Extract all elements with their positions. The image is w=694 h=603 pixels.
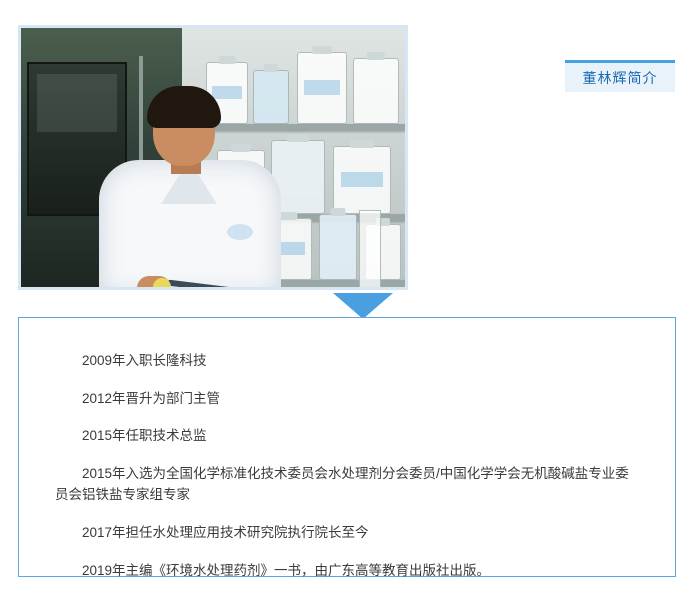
profile-title-label: 董林辉简介	[583, 68, 658, 88]
reagent-bottle	[319, 214, 357, 280]
reagent-bottle	[353, 58, 399, 124]
profile-title-chip: 董林辉简介	[565, 60, 675, 92]
list-item: 2015年入选为全国化学标准化技术委员会水处理剂分会委员/中国化学学会无机酸碱盐…	[55, 463, 639, 506]
graduated-cylinder	[359, 210, 381, 287]
list-item: 2015年任职技术总监	[55, 425, 639, 447]
company-logo-badge	[227, 224, 253, 240]
list-item: 2012年晋升为部门主管	[55, 388, 639, 410]
reagent-bottle	[253, 70, 289, 124]
list-item: 2009年入职长隆科技	[55, 350, 639, 372]
pointer-triangle-icon	[333, 293, 393, 319]
reagent-bottle	[333, 146, 391, 214]
portrait-in-laboratory	[21, 28, 405, 287]
biography-panel: 2009年入职长隆科技 2012年晋升为部门主管 2015年任职技术总监 201…	[18, 317, 676, 577]
biography-list: 2009年入职长隆科技 2012年晋升为部门主管 2015年任职技术总监 201…	[19, 318, 675, 581]
reagent-bottle	[297, 52, 347, 124]
portrait-photo-frame	[18, 25, 408, 290]
list-item: 2019年主编《环境水处理药剂》一书，由广东高等教育出版社出版。	[55, 560, 639, 582]
list-item: 2017年担任水处理应用技术研究院执行院长至今	[55, 522, 639, 544]
